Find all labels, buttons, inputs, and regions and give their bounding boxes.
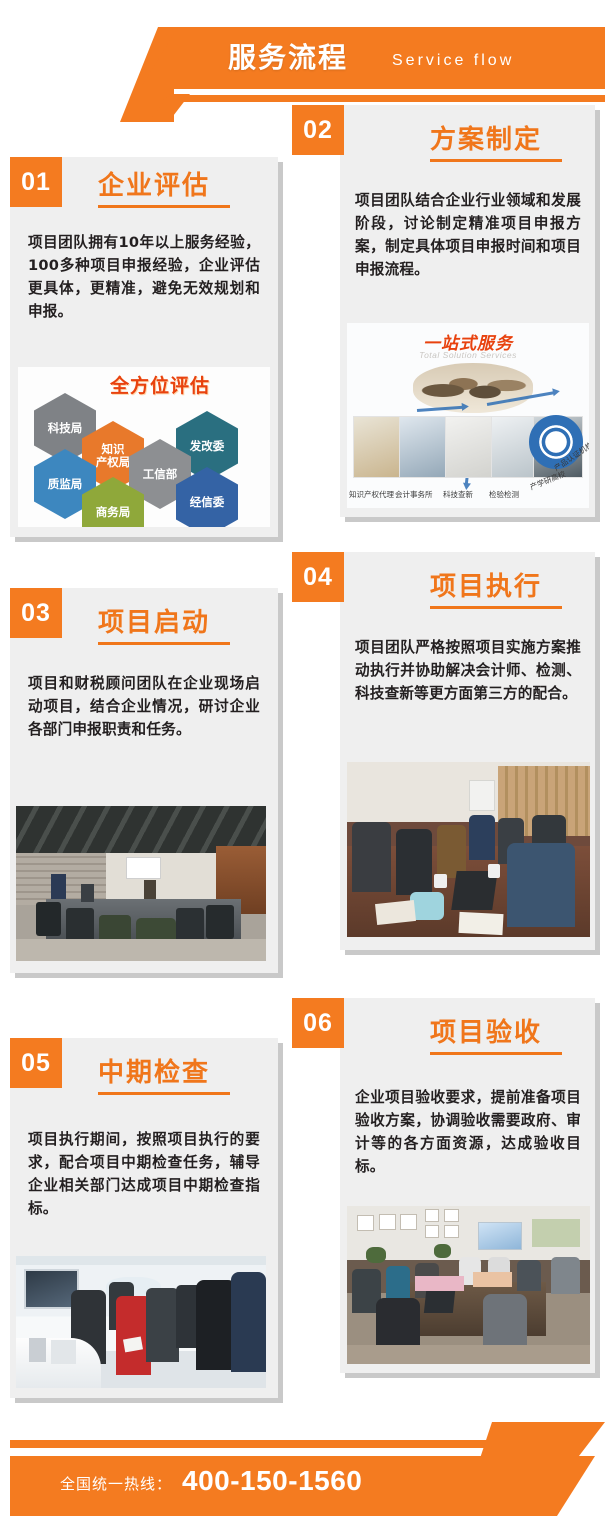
- card-media-hex-diagram: 全方位评估 科技局 知识 产权局 发改委 质监局 工信部 商务局 经信委: [18, 367, 270, 527]
- page-footer: 全国统一热线： 400-150-1560: [0, 1408, 605, 1538]
- card-title-rule: [98, 1092, 230, 1095]
- step-number-badge: 02: [292, 105, 344, 155]
- card-media-photo-conference: [347, 1206, 590, 1364]
- card-body-text: 项目团队拥有10年以上服务经验，100多种项目申报经验，企业评估更具体，更精准，…: [28, 231, 260, 323]
- one-stop-caption: 知识产权代理: [349, 489, 394, 500]
- one-stop-caption: 检验检测: [489, 489, 519, 500]
- one-stop-tile: [445, 416, 495, 478]
- one-stop-tile: [399, 416, 449, 478]
- one-stop-caption: 科技查新: [443, 489, 473, 500]
- step-card-05: 05 中期检查 项目执行期间，按照项目执行的要求，配合项目中期检查任务，辅导企业…: [10, 1038, 278, 1398]
- card-media-one-stop-diagram: 一站式服务 Total Solution Services 客户 项目经理 IS…: [347, 323, 589, 508]
- card-title-rule: [430, 1052, 562, 1055]
- seal-text: ISO: [547, 437, 564, 448]
- step-number-badge: 06: [292, 998, 344, 1048]
- card-media-photo-worksession: [347, 762, 590, 937]
- hex-diagram-title: 全方位评估: [110, 371, 210, 398]
- card-title-rule: [430, 159, 562, 162]
- step-card-03: 03 项目启动 项目和财税顾问团队在企业现场启动项目，结合企业情况，研讨企业各部…: [10, 588, 278, 973]
- card-body-text: 项目执行期间，按照项目执行的要求，配合项目中期检查任务，辅导企业相关部门达成项目…: [28, 1128, 260, 1220]
- card-media-photo-meeting-room: [16, 806, 266, 961]
- step-card-06: 06 项目验收 企业项目验收要求，提前准备项目验收方案，协调验收需要政府、审计等…: [292, 998, 595, 1373]
- card-title: 项目启动: [98, 602, 210, 639]
- header-underline: [160, 95, 605, 102]
- card-title-rule: [98, 205, 230, 208]
- step-number-badge: 01: [10, 157, 62, 207]
- header-banner-bar: [140, 27, 605, 89]
- card-title-rule: [430, 606, 562, 609]
- card-title: 方案制定: [430, 119, 542, 156]
- one-stop-caption: 会计事务所: [395, 489, 433, 500]
- card-title-rule: [98, 642, 230, 645]
- page-title: 服务流程: [228, 36, 348, 80]
- one-stop-subtitle: Total Solution Services: [347, 350, 589, 360]
- card-body-text: 项目和财税顾问团队在企业现场启动项目，结合企业情况，研讨企业各部门申报职责和任务…: [28, 672, 260, 741]
- hotline-label: 全国统一热线：: [60, 1473, 172, 1494]
- card-title: 中期检查: [98, 1052, 210, 1089]
- card-media-photo-showroom-visit: [16, 1256, 266, 1388]
- one-stop-tile: [353, 416, 403, 478]
- hotline-number[interactable]: 400-150-1560: [182, 1465, 362, 1497]
- card-title: 项目验收: [430, 1012, 542, 1049]
- card-body-text: 项目团队结合企业行业领域和发展阶段，讨论制定精准项目申报方案，制定具体项目申报时…: [355, 189, 581, 281]
- card-title: 项目执行: [430, 566, 542, 603]
- step-card-02: 02 方案制定 项目团队结合企业行业领域和发展阶段，讨论制定精准项目申报方案，制…: [292, 105, 595, 517]
- one-stop-hero-photo: [413, 363, 533, 413]
- step-card-04: 04 项目执行 项目团队严格按照项目实施方案推动执行并协助解决会计师、检测、科技…: [292, 552, 595, 950]
- page-subtitle: Service flow: [392, 47, 514, 75]
- step-number-badge: 05: [10, 1038, 62, 1088]
- step-number-badge: 03: [10, 588, 62, 638]
- page-header: 服务流程 Service flow: [0, 0, 605, 118]
- step-number-badge: 04: [292, 552, 344, 602]
- card-title: 企业评估: [98, 165, 210, 202]
- card-body-text: 项目团队严格按照项目实施方案推动执行并协助解决会计师、检测、科技查新等更方面第三…: [355, 636, 581, 705]
- card-body-text: 企业项目验收要求，提前准备项目验收方案，协调验收需要政府、审计等的各方面资源，达…: [355, 1086, 581, 1178]
- step-card-01: 01 企业评估 项目团队拥有10年以上服务经验，100多种项目申报经验，企业评估…: [10, 157, 278, 537]
